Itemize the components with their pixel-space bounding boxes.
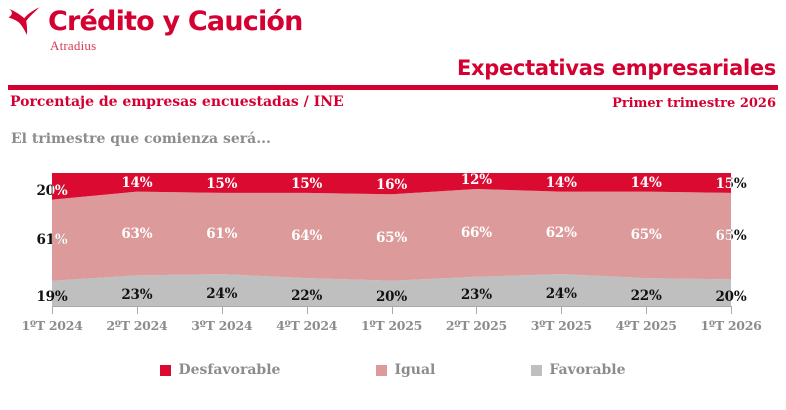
legend-label: Igual — [394, 362, 435, 378]
brand-block: Crédito y Caución Atradius — [8, 6, 303, 58]
legend-swatch-icon — [376, 365, 387, 376]
chart-value-label: 66% — [461, 225, 492, 241]
stacked-area-chart: 20%20%14%15%15%16%12%14%14%15%15%61%61%6… — [0, 160, 786, 310]
chart-value-label: 65%65% — [715, 228, 746, 244]
legend-label: Favorable — [549, 362, 625, 378]
x-axis-tick-label: 4ºT 2024 — [276, 318, 337, 333]
credito-y-caucion-logo-icon — [8, 6, 42, 36]
chart-value-label: 12% — [461, 172, 492, 188]
chart-value-label: 61%61% — [36, 232, 67, 248]
chart-value-label: 65% — [631, 227, 662, 243]
x-axis-tick — [646, 306, 647, 314]
legend-swatch-icon — [160, 365, 171, 376]
x-axis-tick — [476, 306, 477, 314]
chart-value-label: 14% — [121, 175, 152, 191]
x-axis-tick — [731, 306, 732, 314]
brand-row: Crédito y Caución — [8, 6, 303, 36]
x-axis-tick-label: 3ºT 2025 — [531, 318, 592, 333]
legend-item[interactable]: Favorable — [531, 362, 625, 378]
brand-parent-name: Atradius — [50, 38, 303, 54]
x-axis-tick-label: 1ºT 2026 — [701, 318, 762, 333]
chart-value-label: 20% — [715, 289, 746, 305]
chart-value-label: 64% — [291, 228, 322, 244]
chart-value-label: 22% — [631, 288, 662, 304]
chart-value-label: 19% — [36, 289, 67, 305]
chart-value-label: 61% — [206, 226, 237, 242]
chart-value-label: 20% — [376, 289, 407, 305]
legend-item[interactable]: Desfavorable — [160, 362, 280, 378]
x-axis-tick — [222, 306, 223, 314]
legend-swatch-icon — [531, 365, 542, 376]
chart-value-label: 15% — [291, 176, 322, 192]
x-axis-tick — [52, 306, 53, 314]
x-axis-tick — [561, 306, 562, 314]
x-axis-tick-label: 3ºT 2024 — [191, 318, 252, 333]
chart-value-label: 24% — [546, 286, 577, 302]
chart-value-label: 23% — [121, 287, 152, 303]
x-axis-tick-label: 1ºT 2025 — [361, 318, 422, 333]
chart-value-label: 62% — [546, 225, 577, 241]
chart-legend: DesfavorableIgualFavorable — [0, 362, 786, 378]
chart-value-label: 14% — [546, 175, 577, 191]
x-axis-tick-label: 2ºT 2025 — [446, 318, 507, 333]
chart-question-label: El trimestre que comienza será... — [11, 131, 271, 147]
chart-source-label: Porcentaje de empresas encuestadas / INE — [10, 94, 344, 110]
chart-value-label: 20%20% — [36, 183, 67, 199]
x-axis-tick-label: 1ºT 2024 — [22, 318, 83, 333]
legend-item[interactable]: Igual — [376, 362, 435, 378]
x-axis-tick-label: 4ºT 2025 — [616, 318, 677, 333]
x-axis-tick — [137, 306, 138, 314]
x-axis-tick — [392, 306, 393, 314]
chart-value-label: 23% — [461, 287, 492, 303]
page-title: Expectativas empresariales — [457, 56, 776, 80]
chart-value-label: 16% — [376, 177, 407, 193]
chart-value-label: 15% — [206, 176, 237, 192]
chart-value-label: 65% — [376, 230, 407, 246]
chart-value-label: 15%15% — [715, 176, 746, 192]
chart-value-label: 63% — [121, 226, 152, 242]
header-divider — [8, 85, 778, 90]
chart-value-label: 14% — [631, 175, 662, 191]
brand-name: Crédito y Caución — [48, 8, 303, 35]
legend-label: Desfavorable — [178, 362, 280, 378]
chart-value-label: 24% — [206, 286, 237, 302]
x-axis-tick-label: 2ºT 2024 — [106, 318, 167, 333]
report-period-label: Primer trimestre 2026 — [612, 96, 776, 111]
chart-value-label: 22% — [291, 288, 322, 304]
x-axis-tick — [307, 306, 308, 314]
